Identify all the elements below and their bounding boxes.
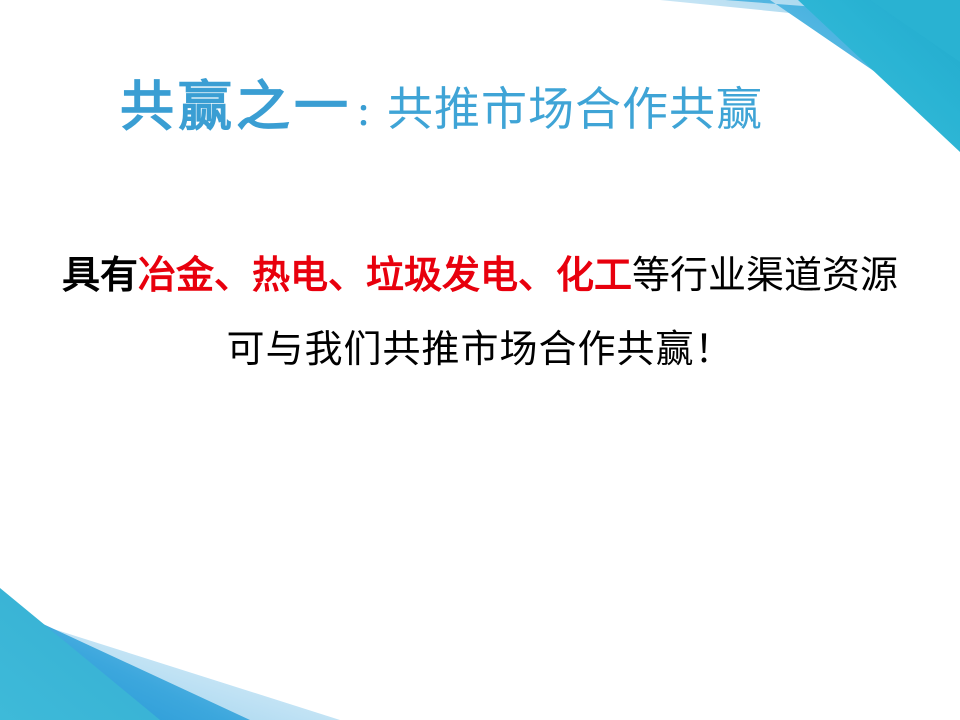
body-line-1-suffix: 等行业渠道资源 [632, 253, 898, 297]
title-separator: ： [352, 98, 387, 133]
title-subtitle-text: 共推市场合作共赢 [387, 82, 763, 136]
title-main-text: 共赢之一 [120, 74, 352, 138]
decoration-bottom-left [0, 560, 340, 720]
body-line-1: 具有冶金、热电、垃圾发电、化工等行业渠道资源 [0, 238, 960, 312]
slide-body: 具有冶金、热电、垃圾发电、化工等行业渠道资源 可与我们共推市场合作共赢！ [0, 238, 960, 386]
slide-canvas: 共赢之一：共推市场合作共赢 具有冶金、热电、垃圾发电、化工等行业渠道资源 可与我… [0, 0, 960, 720]
body-line-1-prefix: 具有 [62, 253, 138, 297]
diagonal-ribbon-bottom-left-icon [0, 560, 340, 720]
slide-title: 共赢之一：共推市场合作共赢 [120, 62, 920, 141]
body-line-2: 可与我们共推市场合作共赢！ [0, 312, 960, 386]
body-line-1-highlight: 冶金、热电、垃圾发电、化工 [138, 253, 632, 297]
